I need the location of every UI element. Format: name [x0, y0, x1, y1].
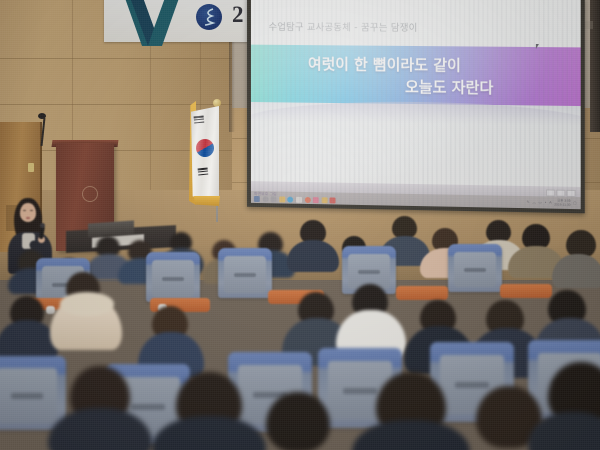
audience-head [266, 392, 330, 450]
armrest-tip [46, 306, 55, 314]
audience-shoulders [287, 240, 339, 272]
seat-armrest [500, 284, 552, 298]
auditorium-photo: 2 교육지원청 수업탐구 교사공동체 - 꿈꾸는 담쟁이 여럿이 한 뼘이라도 … [0, 0, 600, 450]
audience-area [0, 0, 600, 450]
fur-collar [60, 292, 114, 316]
audience-shoulders [552, 254, 600, 288]
auditorium-seat [218, 248, 272, 298]
seat-armrest [396, 286, 448, 300]
auditorium-seat [0, 356, 66, 430]
auditorium-seat [146, 252, 200, 302]
auditorium-seat [448, 244, 502, 292]
